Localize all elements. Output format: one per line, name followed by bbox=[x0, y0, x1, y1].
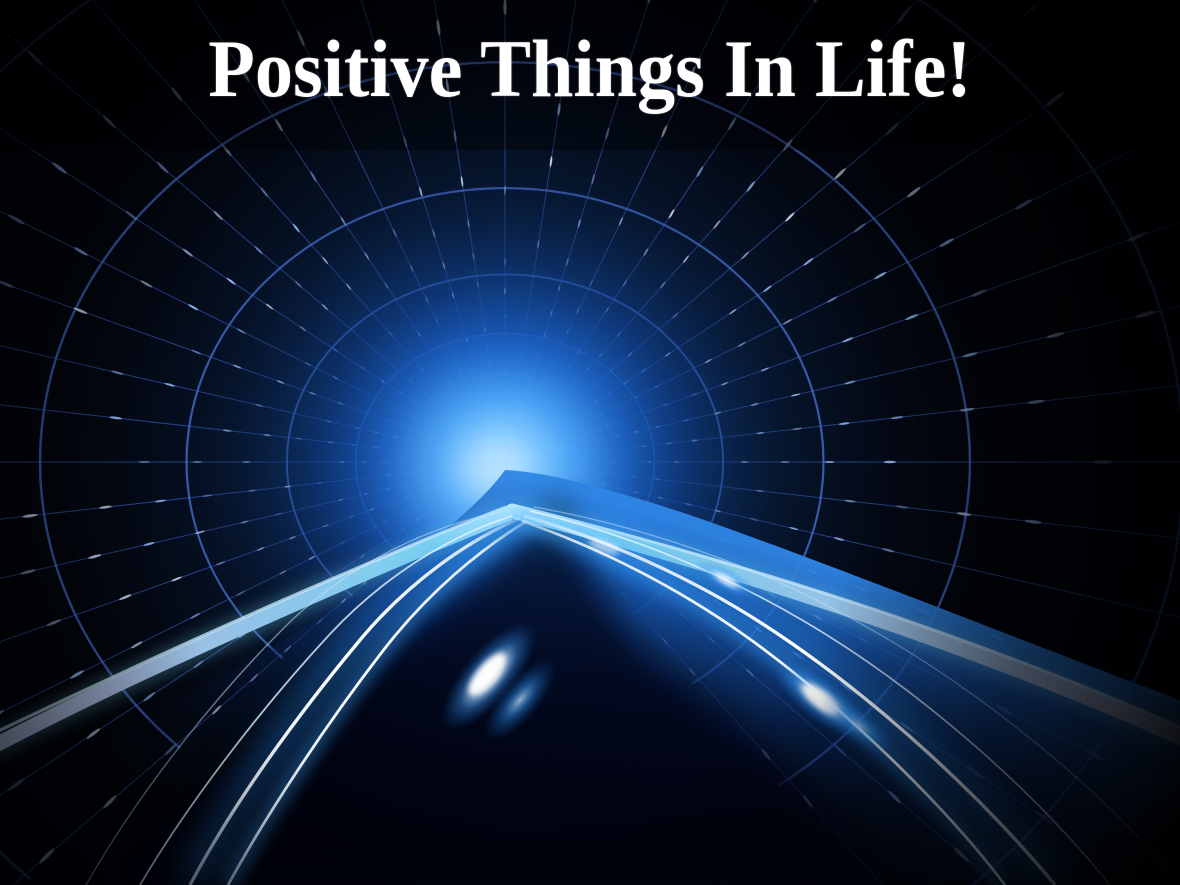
corner-darken-top bbox=[0, 0, 1180, 150]
tunnel-background-image bbox=[0, 0, 1180, 885]
slide-canvas: Positive Things In Life! bbox=[0, 0, 1180, 885]
